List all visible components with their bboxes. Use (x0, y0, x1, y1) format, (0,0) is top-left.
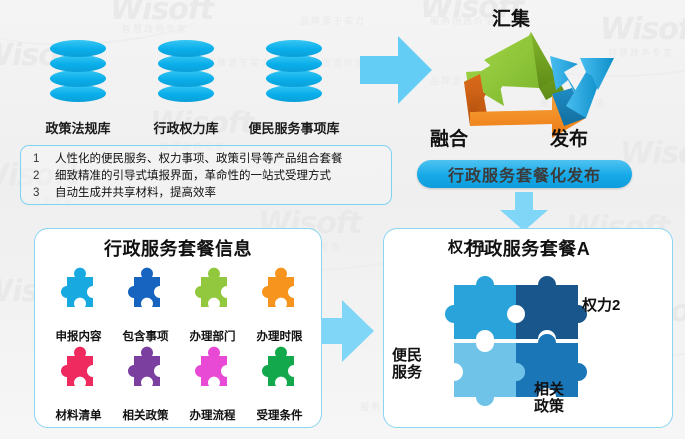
assembled-label-power-2: 权力2 (582, 297, 620, 314)
database-row: 政策法规库 行政权力库 便民服务事项库 (0, 26, 360, 136)
puzzle-icon-related-policy (120, 344, 172, 398)
assembled-puzzle: 权力1 权力2 便民 服务 相关 政策 (442, 255, 592, 415)
panel-service-package-info: 行政服务套餐信息 申报内容 包含事项 办理部门 (34, 228, 322, 428)
db-label-admin-power: 行政权力库 (153, 118, 218, 137)
puzzle-label-related-policy: 相关政策 (123, 407, 169, 423)
cylinder-disc (266, 85, 322, 102)
cylinder-disc (158, 70, 214, 87)
list-item-text: 人性化的便民服务、权力事项、政策引导等产品组合套餐 (55, 151, 343, 168)
assembled-piece-public-service (454, 343, 525, 406)
db-icon-policy-regulation: 政策法规库 (50, 40, 106, 102)
cylinder-disc (50, 70, 106, 87)
db-icon-admin-power: 行政权力库 (158, 40, 214, 102)
assembled-piece-power-1 (445, 276, 516, 339)
puzzle-icon-handling-process (187, 344, 239, 398)
cylinder-disc (158, 40, 214, 57)
list-item-number: 2 (33, 168, 55, 185)
assembled-label-related-policy: 相关 政策 (534, 381, 564, 415)
puzzle-piece-grid: 申报内容 包含事项 办理部门 办理时限 (45, 265, 313, 423)
assembled-label-line: 便民 (392, 347, 422, 364)
list-item: 3 自动生成并共享材料，提高效率 (33, 185, 391, 202)
puzzle-icon-material-list (53, 344, 105, 398)
puzzle-cell[interactable]: 材料清单 (45, 344, 112, 423)
publish-badge[interactable]: 行政服务套餐化发布 (417, 160, 632, 188)
flow-arrow-right-big (358, 32, 434, 108)
cylinder-disc (50, 85, 106, 102)
assembled-label-line: 相关 (534, 381, 564, 398)
assembled-label-power-1: 权力1 (448, 239, 486, 256)
list-item-number: 1 (33, 151, 55, 168)
recycle-label-right: 发布 (550, 124, 588, 151)
list-item-number: 3 (33, 185, 55, 202)
list-item-text: 自动生成并共享材料，提高效率 (55, 185, 216, 202)
puzzle-icon-handling-deadline (254, 265, 306, 319)
slide-canvas: Wisoft 智慧政务专家 Wisoft 品牌源于实力 服务创造价值 Wisof… (0, 0, 685, 439)
recycle-label-left: 融合 (430, 124, 468, 151)
recycle-cycle-diagram: 汇集 融合 发布 (440, 28, 620, 148)
cylinder-disc (158, 55, 214, 72)
cylinder-disc (50, 40, 106, 57)
cylinder-disc (266, 40, 322, 57)
puzzle-icon-handling-department (187, 265, 239, 319)
puzzle-label-handling-deadline: 办理时限 (257, 328, 303, 344)
db-label-public-service-item: 便民服务事项库 (248, 118, 339, 137)
list-item: 1 人性化的便民服务、权力事项、政策引导等产品组合套餐 (33, 151, 391, 168)
puzzle-cell[interactable]: 受理条件 (246, 344, 313, 423)
watermark-slogan: 服务创造价值 (430, 14, 496, 27)
puzzle-label-acceptance-condition: 受理条件 (257, 407, 303, 423)
list-item-text: 细致精准的引导式填报界面，革命性的一站式受理方式 (55, 168, 331, 185)
panel-left-title: 行政服务套餐信息 (35, 235, 321, 261)
puzzle-icon-included-items (120, 265, 172, 319)
list-item: 2 细致精准的引导式填报界面，革命性的一站式受理方式 (33, 168, 391, 185)
assembled-piece-power-2 (516, 276, 587, 339)
puzzle-cell[interactable]: 申报内容 (45, 265, 112, 344)
puzzle-icon-declaration-content (53, 265, 105, 319)
puzzle-label-material-list: 材料清单 (56, 407, 102, 423)
puzzle-label-declaration-content: 申报内容 (56, 328, 102, 344)
puzzle-icon-acceptance-condition (254, 344, 306, 398)
publish-badge-label: 行政服务套餐化发布 (448, 162, 601, 186)
cylinder-disc (266, 55, 322, 72)
cylinder-disc (50, 55, 106, 72)
puzzle-cell[interactable]: 办理部门 (179, 265, 246, 344)
cylinder-disc (158, 85, 214, 102)
puzzle-label-handling-process: 办理流程 (190, 407, 236, 423)
puzzle-label-handling-department: 办理部门 (190, 328, 236, 344)
feature-list-box: 1 人性化的便民服务、权力事项、政策引导等产品组合套餐 2 细致精准的引导式填报… (20, 145, 392, 205)
puzzle-cell[interactable]: 包含事项 (112, 265, 179, 344)
assembled-label-line: 服务 (392, 364, 422, 381)
flow-arrow-down (498, 192, 550, 232)
recycle-label-top: 汇集 (492, 4, 530, 31)
puzzle-cell[interactable]: 办理流程 (179, 344, 246, 423)
panel-service-package-a: 行政服务套餐A 权力1 权力2 便民 服务 相关 政策 (383, 228, 673, 428)
db-label-policy-regulation: 政策法规库 (45, 118, 110, 137)
db-icon-public-service-item: 便民服务事项库 (266, 40, 322, 102)
assembled-label-public-service: 便民 服务 (392, 347, 422, 381)
puzzle-label-included-items: 包含事项 (123, 328, 169, 344)
assembled-label-line: 政策 (534, 398, 564, 415)
cylinder-disc (266, 70, 322, 87)
puzzle-cell[interactable]: 相关政策 (112, 344, 179, 423)
puzzle-cell[interactable]: 办理时限 (246, 265, 313, 344)
watermark-logo: Wisoft (110, 0, 213, 27)
